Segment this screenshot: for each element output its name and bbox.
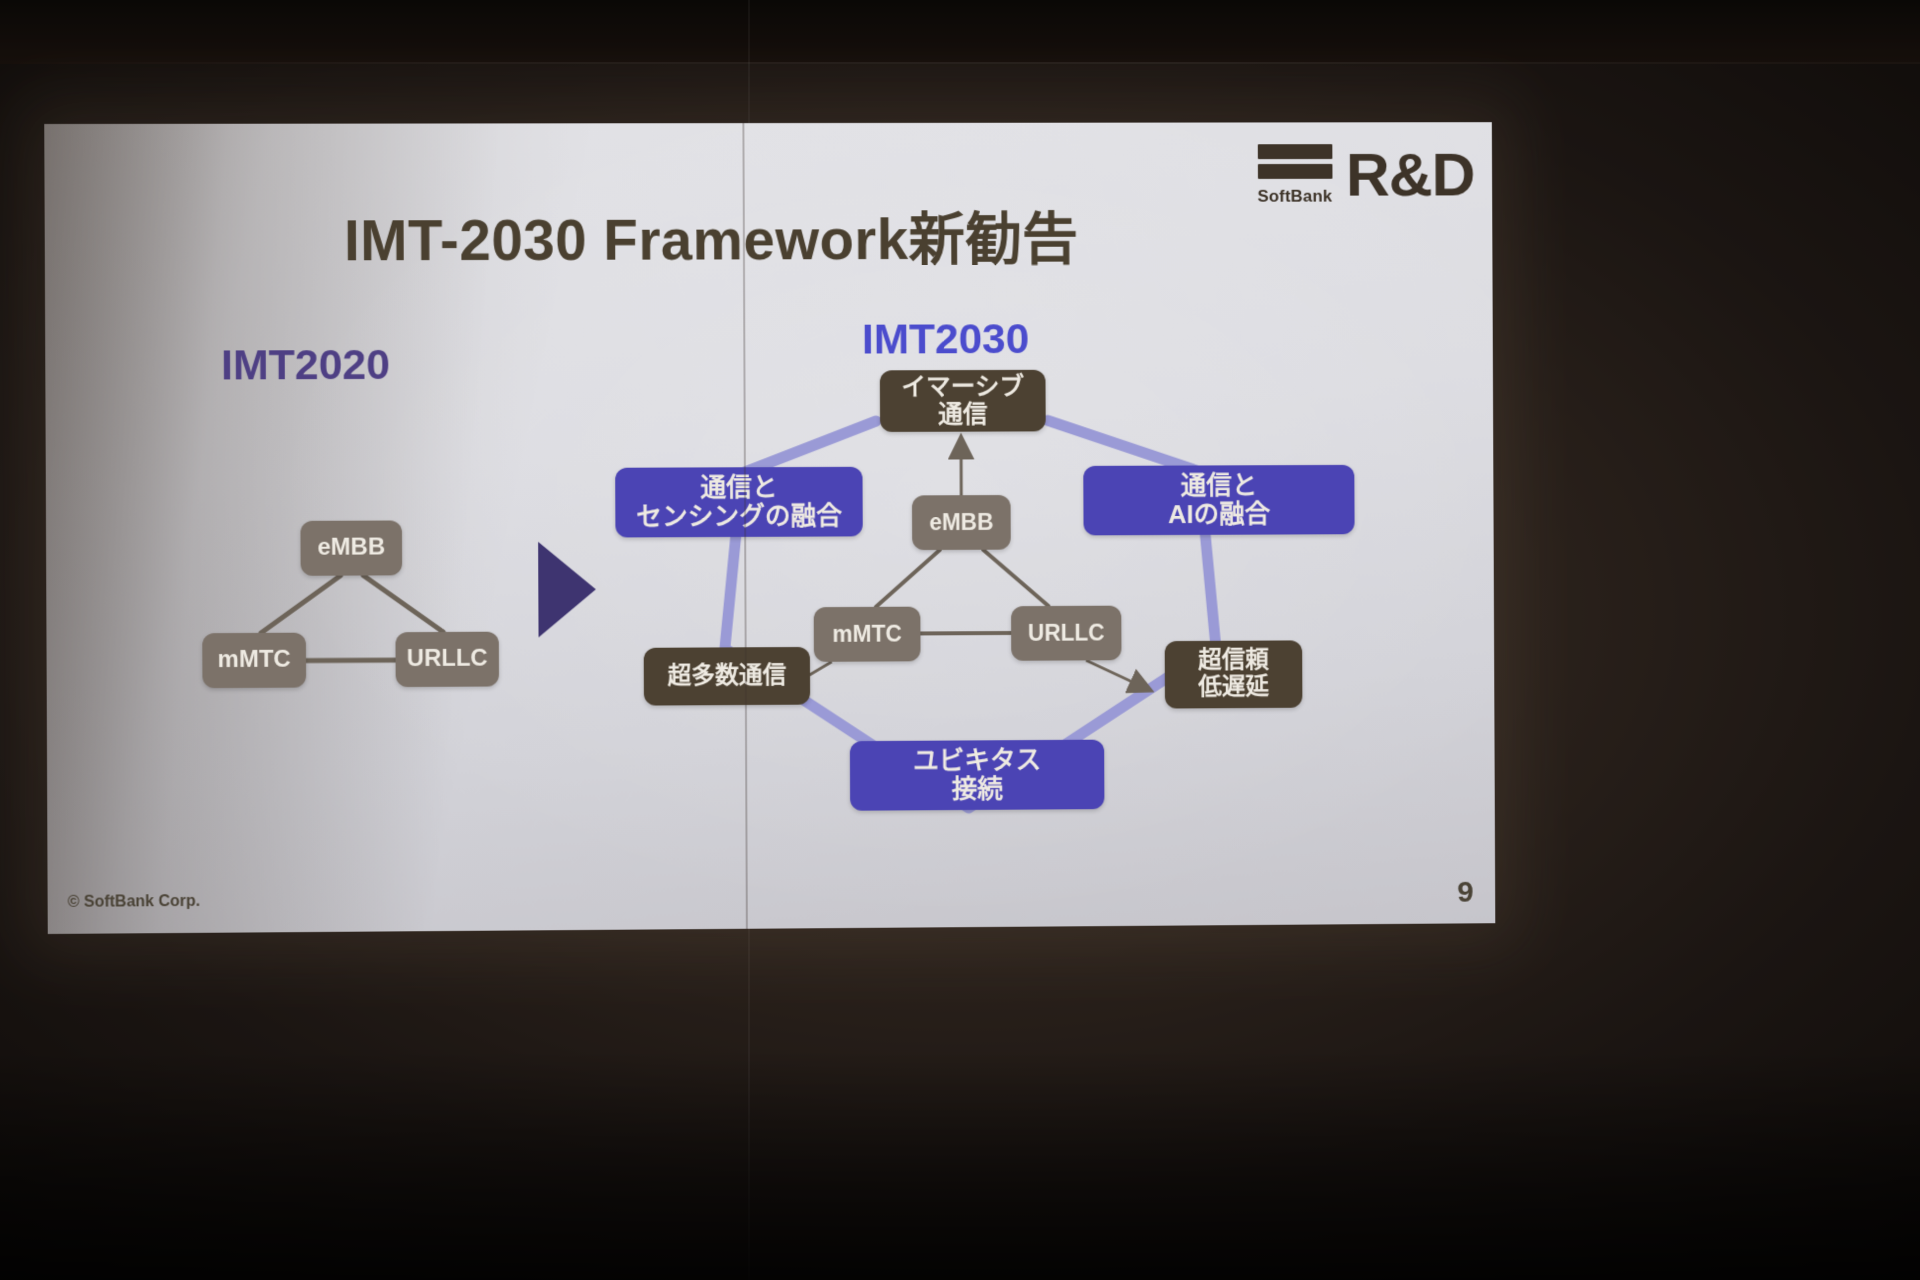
node-scenario-ubiquitous-connectivity[interactable]: ユビキタス 接続 [850,740,1105,811]
node-label: eMBB [929,510,993,536]
logo-brand-text: SoftBank [1257,187,1332,207]
presentation-slide: SoftBank R&D IMT-2030 Framework新勧告 IMT20… [44,122,1495,934]
node-label: eMBB [317,535,385,562]
node-scenario-immersive[interactable]: イマーシブ 通信 [880,370,1046,432]
floor-shadow [0,1050,1920,1280]
right-triangle-arrow-icon [538,542,596,638]
node-scenario-sensing[interactable]: 通信と センシングの融合 [615,467,863,538]
node-imt2030-mmtc[interactable]: mMTC [814,607,921,662]
node-label-line1: イマーシブ [901,373,1024,401]
ceiling-panel [0,0,1920,64]
node-label: URLLC [407,646,488,673]
node-imt2020-mmtc[interactable]: mMTC [202,633,306,688]
softbank-rd-logo: SoftBank R&D [1257,144,1474,207]
node-label-line2: 低遅延 [1198,674,1269,701]
node-label: mMTC [218,647,291,674]
logo-unit-text: R&D [1346,149,1475,202]
edge-embb-mmtc [876,550,940,607]
node-label-line2: 通信 [938,401,987,429]
imt2020-heading: IMT2020 [221,341,390,390]
copyright-notice: © SoftBank Corp. [68,893,201,912]
wall-seam-horizontal [0,62,1920,64]
arrow-urllc-to-reliable [1086,660,1149,690]
node-label: URLLC [1028,620,1105,646]
node-label-line1: 通信と [700,473,777,502]
node-label-line1: 超多数通信 [668,663,787,690]
node-label-line1: ユビキタス [913,746,1041,776]
node-label-line1: 超信頼 [1198,648,1269,675]
equals-bars-icon: SoftBank [1257,144,1332,207]
node-label-line1: 通信と [1181,471,1258,500]
room-background: SoftBank R&D IMT-2030 Framework新勧告 IMT20… [0,0,1920,1280]
node-scenario-reliable-low-latency[interactable]: 超信頼 低遅延 [1165,640,1303,708]
node-label: mMTC [832,621,902,647]
imt2030-heading: IMT2030 [862,315,1030,364]
node-label-line2: 接続 [952,775,1003,804]
logo-bar-bottom [1257,164,1332,179]
node-label-line2: センシングの融合 [636,502,842,532]
node-imt2020-embb[interactable]: eMBB [300,520,402,575]
page-number: 9 [1457,876,1473,910]
logo-bar-top [1257,144,1332,159]
node-imt2030-embb[interactable]: eMBB [912,495,1011,550]
edge-embb-urllc [983,549,1048,606]
node-label-line2: AIの融合 [1168,500,1270,529]
node-scenario-massive-connectivity[interactable]: 超多数通信 [644,647,810,706]
edge-embb-urllc [363,575,443,632]
node-scenario-ai[interactable]: 通信と AIの融合 [1083,465,1354,536]
node-imt2030-urllc[interactable]: URLLC [1011,606,1121,661]
node-imt2020-urllc[interactable]: URLLC [395,632,499,687]
page-title: IMT-2030 Framework新勧告 [344,194,1079,277]
edge-embb-mmtc [261,576,341,633]
projection-screen: SoftBank R&D IMT-2030 Framework新勧告 IMT20… [44,122,1495,934]
